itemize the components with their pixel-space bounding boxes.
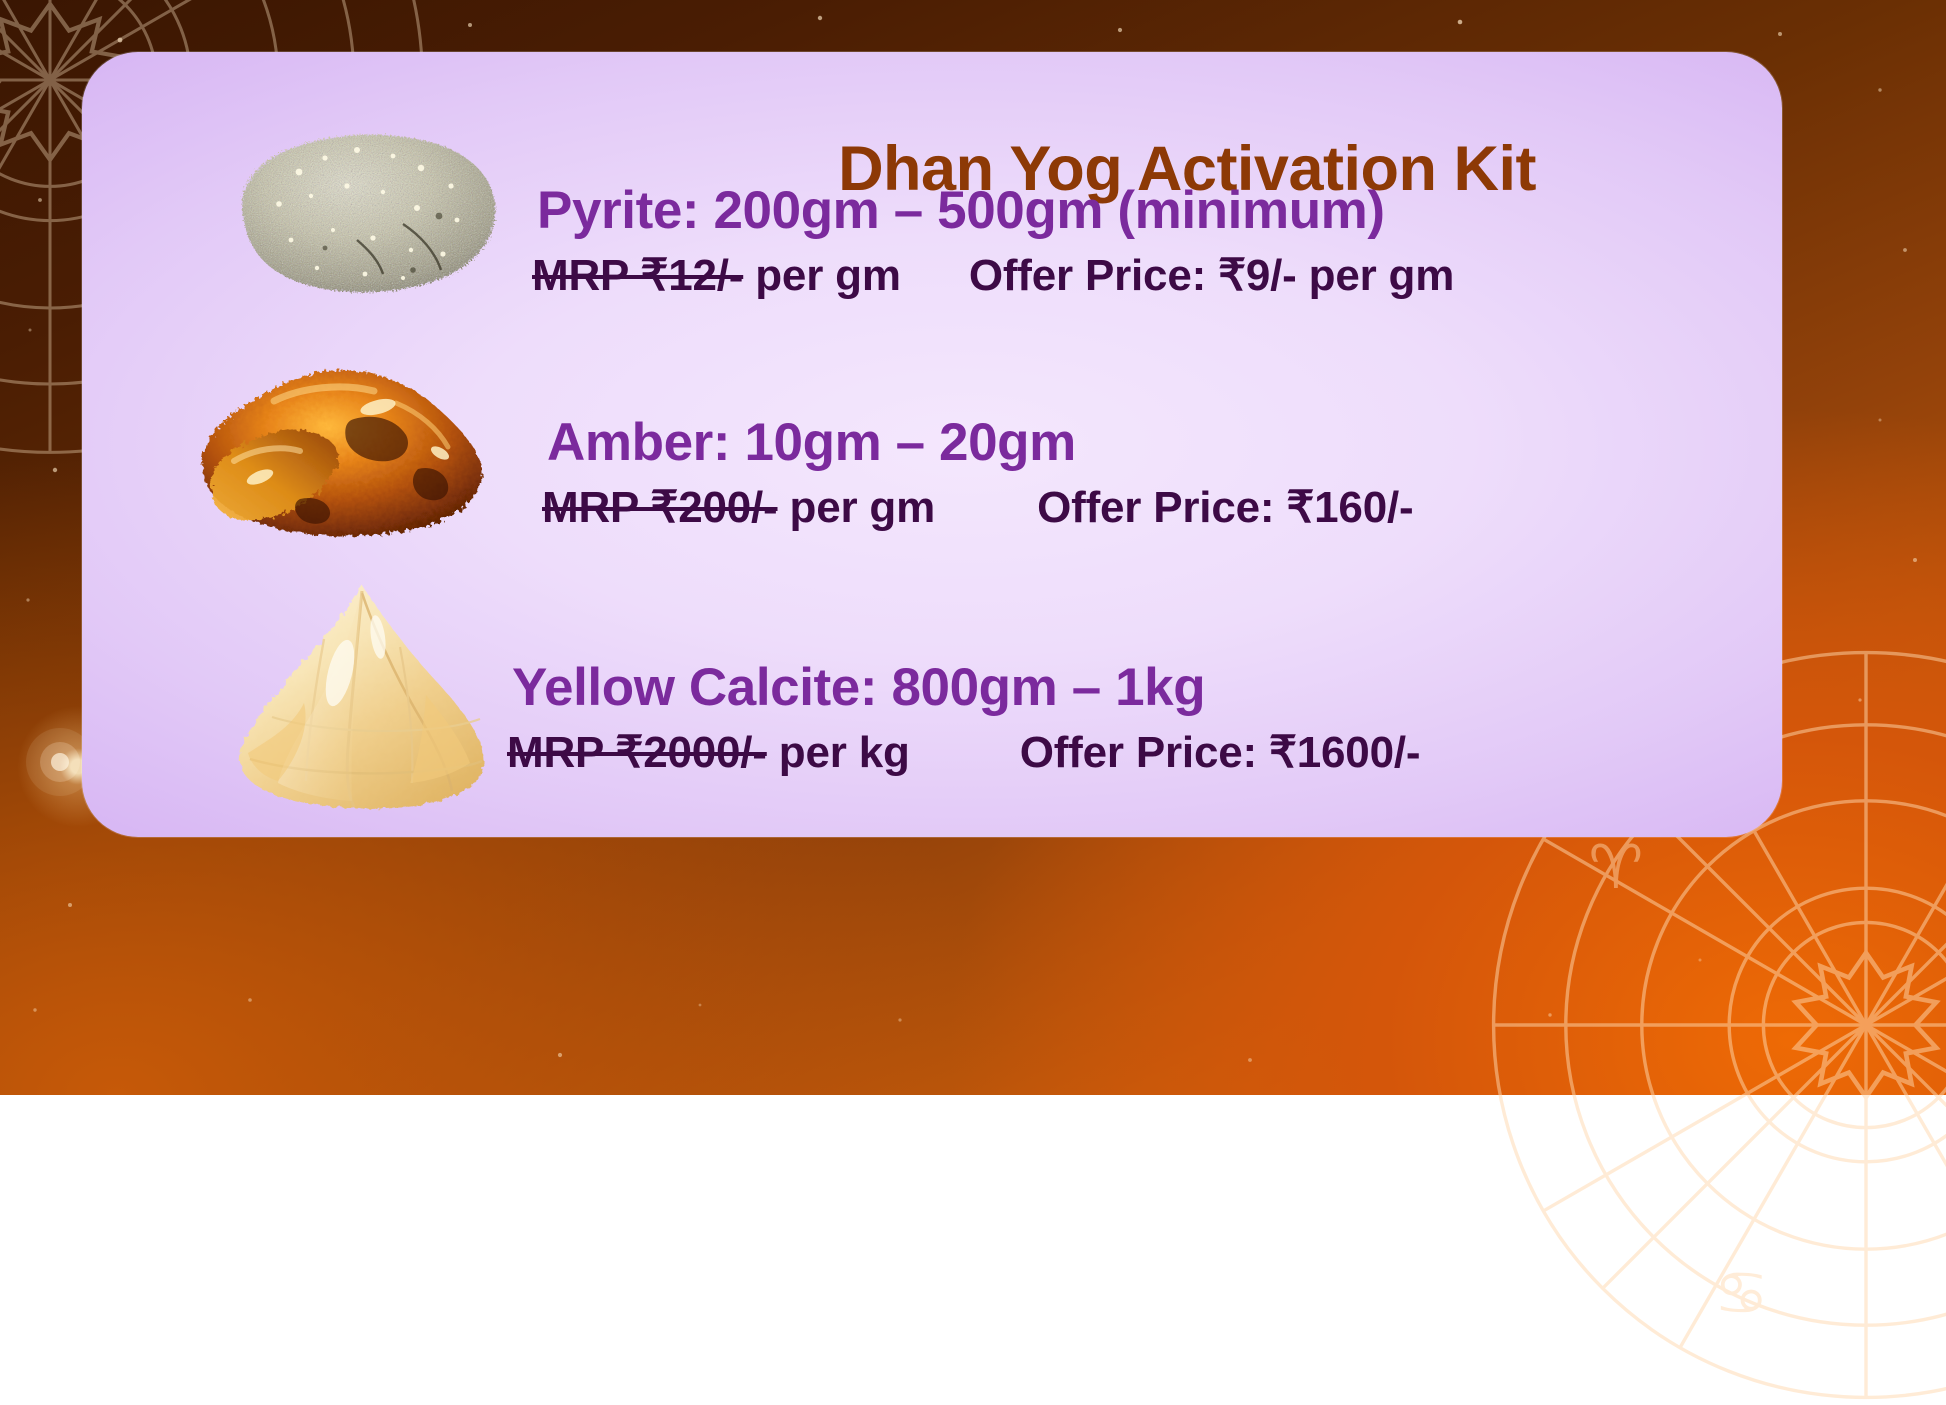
offer-card: Dhan Yog Activation Kit: [82, 52, 1782, 837]
product-heading-calcite: Yellow Calcite: 800gm – 1kg: [512, 657, 1205, 718]
product-price-amber: MRP ₹200/- per gm Offer Price: ₹160/-: [542, 482, 1413, 533]
svg-text:♋: ♋: [1714, 1259, 1769, 1329]
product-price-calcite: MRP ₹2000/- per kg Offer Price: ₹1600/-: [507, 727, 1420, 778]
product-heading-amber: Amber: 10gm – 20gm: [547, 412, 1076, 473]
offer-unit-pyrite: per gm: [1309, 251, 1455, 300]
pyrite-stone-icon: [207, 120, 507, 300]
mrp-unit-calcite: per kg: [779, 728, 910, 777]
mrp-unit-amber: per gm: [790, 483, 936, 532]
mrp-calcite: MRP ₹2000/-: [507, 728, 767, 777]
offer-amber: Offer Price: ₹160/-: [1037, 483, 1413, 532]
product-price-pyrite: MRP ₹12/- per gm Offer Price: ₹9/- per g…: [532, 250, 1454, 301]
offer-pyrite: Offer Price: ₹9/-: [969, 251, 1297, 300]
mrp-pyrite: MRP ₹12/-: [532, 251, 743, 300]
amber-stone-icon: [182, 357, 512, 547]
mrp-unit-pyrite: per gm: [755, 251, 901, 300]
mrp-amber: MRP ₹200/-: [542, 483, 778, 532]
yellow-calcite-stone-icon: [212, 577, 512, 812]
offer-calcite: Offer Price: ₹1600/-: [1020, 728, 1421, 777]
svg-text:♈: ♈: [1589, 833, 1644, 903]
product-heading-pyrite: Pyrite: 200gm – 500gm (minimum): [537, 180, 1385, 241]
